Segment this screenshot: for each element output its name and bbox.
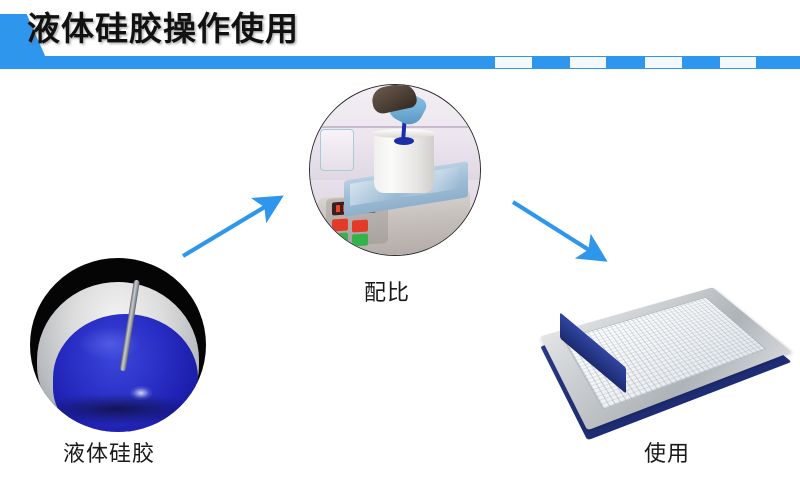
arrow-ratio-to-usage bbox=[505, 190, 610, 262]
photo-weighing-scale bbox=[309, 84, 481, 256]
scale-key-red bbox=[332, 218, 348, 231]
dash-gap bbox=[495, 57, 531, 68]
caption-usage: 使用 bbox=[644, 436, 690, 468]
dash-segment bbox=[532, 57, 570, 68]
header-dash-pattern bbox=[425, 57, 800, 68]
arrow-silicone-to-ratio bbox=[175, 190, 285, 262]
photo-hepa-filter-panel bbox=[548, 262, 782, 440]
wall-fixture bbox=[320, 129, 354, 171]
arrow-line bbox=[513, 202, 597, 255]
dash-gap bbox=[720, 57, 756, 68]
slide-body: 液体硅胶 bbox=[0, 72, 800, 498]
photo-liquid-silicone-bucket bbox=[30, 258, 206, 432]
dash-segment bbox=[425, 57, 495, 68]
slide-header: 液体硅胶操作使用 bbox=[0, 0, 800, 72]
scale-key-green bbox=[332, 232, 348, 245]
caption-liquid-silicone: 液体硅胶 bbox=[63, 436, 155, 468]
scale-key-green bbox=[352, 233, 368, 246]
dash-gap bbox=[645, 57, 681, 68]
slide-root: 液体硅胶操作使用 液体硅胶 bbox=[0, 0, 800, 498]
dash-segment bbox=[682, 57, 720, 68]
dash-segment bbox=[606, 57, 646, 68]
dash-segment bbox=[756, 57, 800, 68]
dash-gap bbox=[570, 57, 606, 68]
page-title: 液体硅胶操作使用 bbox=[27, 6, 299, 52]
scale-key-red bbox=[352, 219, 368, 232]
caption-ratio: 配比 bbox=[364, 275, 410, 307]
bucket-shadow bbox=[40, 394, 196, 424]
arrow-line bbox=[183, 202, 273, 256]
